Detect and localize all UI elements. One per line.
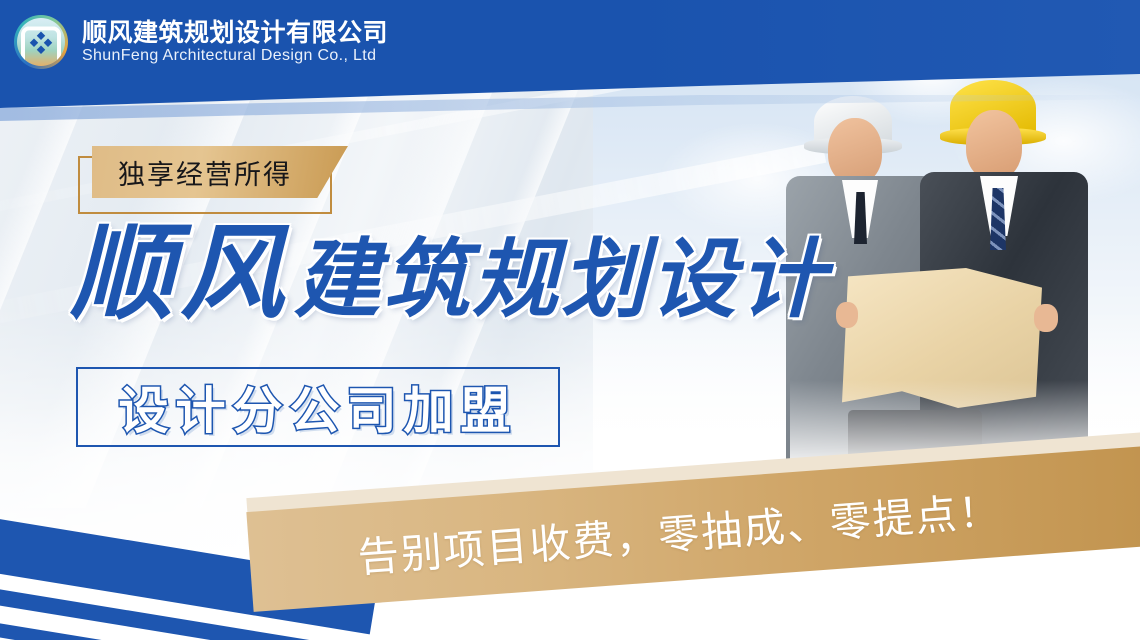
- subtitle-box: 设计分公司加盟: [76, 367, 560, 447]
- workers-photo: [790, 88, 1120, 488]
- company-name-en: ShunFeng Architectural Design Co., Ltd: [82, 47, 388, 65]
- company-name-cn: 顺风建筑规划设计有限公司: [82, 19, 388, 47]
- eyebrow-badge: 独享经营所得: [78, 146, 348, 212]
- company-logo-icon: [14, 15, 68, 69]
- eyebrow-badge-fill: 独享经营所得: [92, 146, 348, 198]
- eyebrow-label: 独享经营所得: [92, 153, 292, 192]
- title-primary: 顺风: [70, 224, 290, 324]
- title-secondary: 建筑规划设计: [294, 239, 828, 322]
- subtitle-label: 设计分公司加盟: [119, 371, 518, 443]
- promo-banner: 顺风建筑规划设计有限公司 ShunFeng Architectural Desi…: [0, 0, 1140, 640]
- page-title: 顺风 建筑规划设计: [70, 224, 828, 324]
- hand-left: [836, 302, 858, 328]
- hand-right: [1034, 304, 1058, 332]
- brand-logo-block[interactable]: 顺风建筑规划设计有限公司 ShunFeng Architectural Desi…: [14, 15, 388, 69]
